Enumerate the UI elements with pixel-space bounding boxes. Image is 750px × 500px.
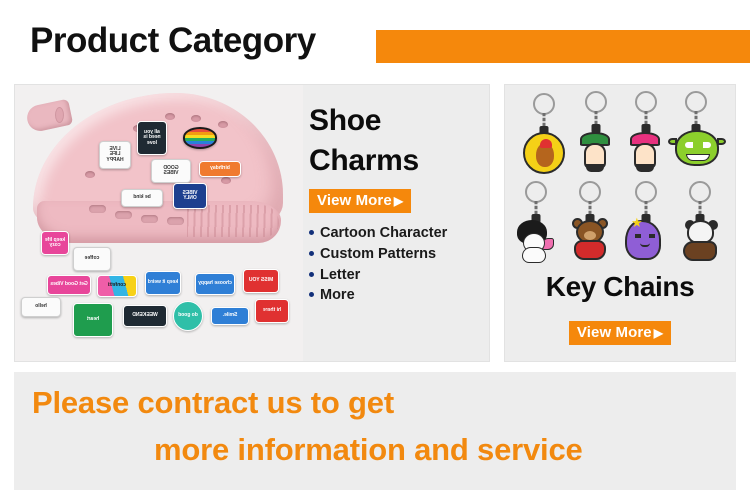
header-accent-bar	[376, 30, 750, 63]
green-ogre-figure	[675, 130, 717, 172]
panda-bear-pair-figure	[679, 220, 721, 262]
shoe-vent	[167, 217, 184, 225]
keyring-icon	[533, 93, 555, 115]
shoe-charm: birthday	[199, 161, 241, 177]
shoe-charm: MISS YOU	[243, 269, 279, 293]
shoe-charms-title-line2: Charms	[309, 141, 489, 181]
black-white-cat-figure	[515, 220, 557, 262]
shoe-charms-title: Shoe Charms	[309, 101, 489, 181]
beaver-coin-figure	[523, 132, 565, 174]
shoe-charm: hi there	[255, 299, 289, 323]
keyring-icon	[579, 181, 601, 203]
shoe-charm: do good	[173, 301, 203, 331]
shoe-charm: keep it weird	[145, 271, 181, 295]
shoe-charms-view-more-button[interactable]: View More▶	[309, 189, 411, 213]
header: Product Category	[0, 0, 750, 78]
keyring-icon	[585, 91, 607, 113]
keyring-icon	[689, 181, 711, 203]
star-icon: ★	[631, 216, 643, 229]
shoe-charm: coffee	[73, 247, 111, 271]
shoe-charm: heart	[73, 303, 113, 337]
keyring-icon	[635, 91, 657, 113]
shoe-charm: be kind	[121, 189, 163, 207]
shoe-charm: keep life cozy	[41, 231, 69, 255]
shoe-charm: confetti	[97, 275, 137, 297]
footer-banner: Please contract us to get more informati…	[14, 372, 736, 490]
shoe-charm	[183, 127, 217, 149]
page-title: Product Category	[30, 21, 316, 61]
shoe-hole	[191, 115, 201, 122]
pink-hat-fairy-figure	[625, 130, 667, 172]
panel-key-chains[interactable]: ★ Key Chains View Mor	[504, 84, 736, 362]
keychain-item	[513, 181, 559, 267]
panel-shoe-charms[interactable]: LIVELIFEHAPPY all you need is love GOODV…	[14, 84, 490, 362]
keyring-icon	[635, 181, 657, 203]
shoe-charms-image: LIVELIFEHAPPY all you need is love GOODV…	[15, 85, 303, 361]
shoe-strap-pivot	[55, 107, 64, 123]
shoe-charm: GOODVIBES	[151, 159, 191, 183]
shoe-vent	[89, 205, 106, 213]
shoe-charm: Smile.	[211, 307, 249, 325]
shoe-charms-text-column: Shoe Charms View More▶ Cartoon Character…	[309, 101, 489, 306]
keychain-item	[623, 91, 669, 177]
green-hat-fairy-figure	[575, 130, 617, 172]
shoe-charm: VIBESONLY	[173, 183, 207, 209]
shoe-charm: hello	[21, 297, 61, 317]
shoe-hole	[221, 177, 231, 184]
key-chains-title: Key Chains	[505, 271, 735, 303]
keychain-item	[573, 91, 619, 177]
list-item: More	[309, 285, 489, 306]
shoe-charms-title-line1: Shoe	[309, 101, 489, 141]
keychain-item: ★	[623, 181, 669, 267]
key-chains-image: ★	[505, 89, 735, 275]
shoe-charm: LIVELIFEHAPPY	[99, 141, 131, 169]
view-more-label: View More	[317, 192, 392, 209]
shoe-charms-feature-list: Cartoon Character Custom Patterns Letter…	[309, 223, 489, 305]
shoe-sole-ridges	[187, 205, 279, 237]
shoe-vent	[115, 211, 132, 219]
list-item: Custom Patterns	[309, 244, 489, 265]
key-chains-view-more-button[interactable]: View More▶	[569, 321, 671, 345]
keychain-item	[673, 91, 719, 177]
shoe-strap	[25, 99, 73, 134]
list-item: Letter	[309, 265, 489, 286]
play-arrow-icon: ▶	[394, 194, 403, 208]
keychain-item	[677, 181, 723, 267]
shoe-charm: all you need is love	[137, 121, 167, 155]
shoe-hole	[165, 113, 175, 120]
footer-line-1: Please contract us to get	[32, 385, 394, 421]
play-arrow-icon: ▶	[654, 326, 663, 340]
shoe-vent	[141, 215, 158, 223]
brown-bear-figure	[569, 220, 611, 262]
shoe-hole	[218, 121, 228, 128]
keychain-item	[567, 181, 613, 267]
shoe-charm: choose happy	[195, 273, 235, 295]
keyring-icon	[525, 181, 547, 203]
shoe-charm: WEEKEND	[123, 305, 167, 327]
category-panels: LIVELIFEHAPPY all you need is love GOODV…	[0, 84, 750, 362]
list-item: Cartoon Character	[309, 223, 489, 244]
keyring-icon	[685, 91, 707, 113]
shoe-charm: Get Good Vibes	[47, 275, 91, 295]
footer-line-2: more information and service	[154, 432, 583, 468]
purple-blob-figure: ★	[625, 220, 667, 262]
shoe-hole	[85, 171, 95, 178]
view-more-label: View More	[577, 324, 652, 341]
key-chains-button-wrap: View More▶	[505, 313, 735, 345]
keychain-item	[521, 93, 567, 179]
